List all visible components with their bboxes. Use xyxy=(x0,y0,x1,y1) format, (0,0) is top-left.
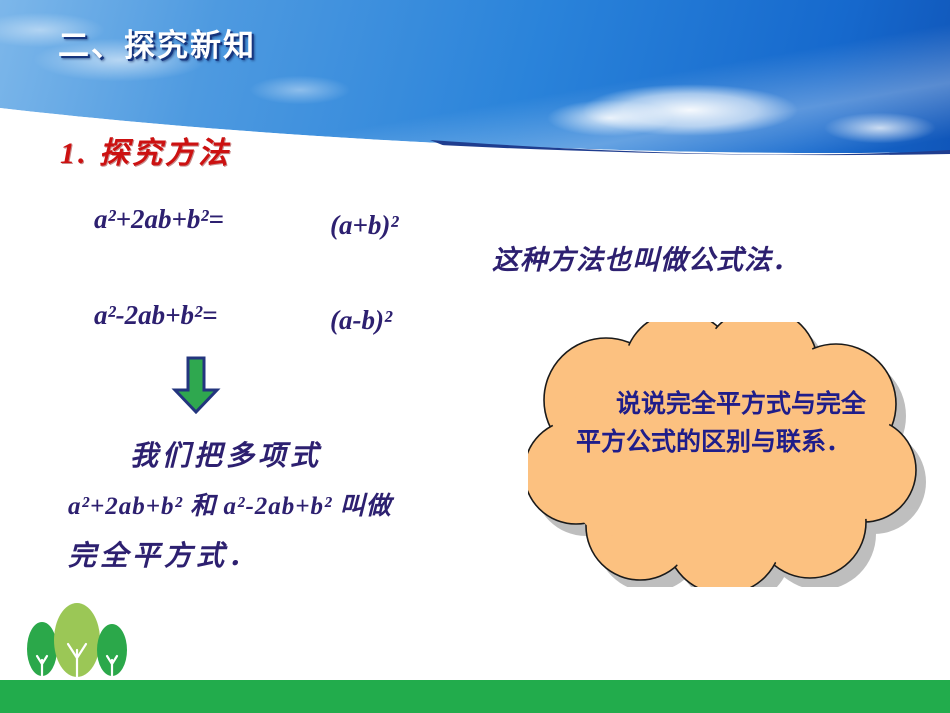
section-heading: 1. 探究方法 xyxy=(60,128,231,172)
bottom-green-bar xyxy=(0,680,950,713)
definition-line-1: 我们把多项式 xyxy=(130,434,322,474)
definition-line-3: 完全平方式． xyxy=(68,534,260,574)
callout-text: 说说完全平方式与完全平方公式的区别与联系． xyxy=(576,385,876,461)
definition-line-2: a²+2ab+b² 和 a²-2ab+b² 叫做 xyxy=(68,486,392,522)
formula-2-lhs: a²-2ab+b²= xyxy=(94,300,217,331)
tree-decoration-icon xyxy=(22,602,132,684)
slide-canvas: 二、探究新知 1. 探究方法 a²+2ab+b²= (a+b)² a²-2ab+… xyxy=(0,0,950,713)
page-title: 二、探究新知 xyxy=(58,20,256,65)
green-down-arrow-icon xyxy=(167,356,225,414)
method-note-text: 这种方法也叫做公式法． xyxy=(492,238,882,282)
formula-1-rhs: (a+b)² xyxy=(330,210,398,241)
formula-1-lhs: a²+2ab+b²= xyxy=(94,204,224,235)
formula-2-rhs: (a-b)² xyxy=(330,305,392,336)
